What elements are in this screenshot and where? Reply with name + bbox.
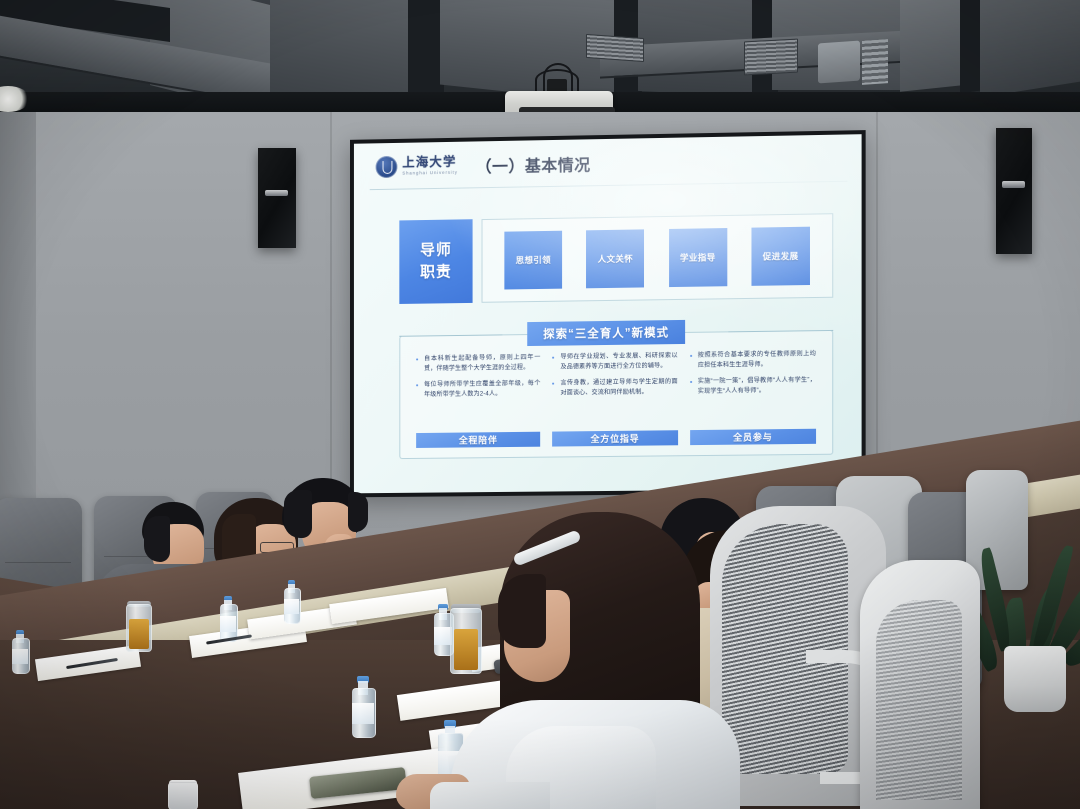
water-bottle: [352, 676, 374, 738]
mentor-duty-line-2: 职责: [420, 261, 452, 283]
duty-item-3: 促进发展: [751, 227, 810, 286]
air-vent: [744, 39, 798, 76]
mode-bullet: 实施“一院一策”，倡导教师“人人有学生”，实现学生“人人有导师”。: [690, 376, 816, 398]
mode-panel: 自本科新生起配备导师，原则上四年一贯，伴随学生整个大学生涯的全过程。 每位导师所…: [399, 330, 833, 459]
mode-column-0: 自本科新生起配备导师，原则上四年一贯，伴随学生整个大学生涯的全过程。 每位导师所…: [410, 353, 546, 448]
wall-speaker-right: [996, 128, 1032, 254]
mode-bullet: 每位导师所带学生应覆盖全部年级，每个年级所带学生人数为2-4人。: [416, 379, 540, 401]
potted-plant-pot: [1004, 646, 1066, 712]
mode-bullet-list-0: 自本科新生起配备导师，原则上四年一贯，伴随学生整个大学生涯的全过程。 每位导师所…: [416, 353, 540, 407]
water-bottle: [220, 596, 236, 642]
wall-speaker-left: [258, 148, 296, 248]
mode-bullet-list-1: 导师在学业规划、专业发展、科研探索以及品德素养等方面进行全方位的辅导。 言传身教…: [552, 351, 677, 405]
tea-tumbler: [126, 604, 152, 652]
mentor-duty-row: 导师 职责 思想引领 人文关怀 学业指导 促进发展: [399, 213, 833, 304]
university-name-cn: 上海大学: [402, 156, 458, 170]
mode-column-1: 导师在学业规划、专业发展、科研探索以及品德素养等方面进行全方位的辅导。 言传身教…: [546, 351, 683, 447]
projection-screen: 上海大学 Shanghai University （一）基本情况 导师 职责 思…: [350, 130, 866, 497]
shanghai-university-logo-icon: [376, 156, 398, 178]
air-vent-small: [586, 34, 644, 62]
mentor-duty-line-1: 导师: [420, 240, 452, 262]
slide-title: （一）基本情况: [476, 151, 591, 177]
attendee-woman-headband-foreground: [470, 512, 730, 809]
duty-item-1: 人文关怀: [586, 229, 644, 288]
duty-item-0: 思想引领: [504, 231, 562, 290]
mesh-office-chair-second-mesh: [876, 600, 962, 800]
mode-bullet: 导师在学业规划、专业发展、科研探索以及品德素养等方面进行全方位的辅导。: [552, 351, 677, 373]
water-bottle: [12, 630, 28, 674]
mode-tag-2: 全员参与: [690, 429, 816, 445]
university-name-en: Shanghai University: [402, 170, 458, 176]
slide-header: 上海大学 Shanghai University （一）基本情况: [354, 138, 862, 187]
mode-bullet: 言传身教，通过建立导师与学生定期的面对面谈心、交流和同伴励机制。: [552, 377, 677, 399]
duty-item-2: 学业指导: [669, 228, 727, 287]
presentation-slide: 上海大学 Shanghai University （一）基本情况 导师 职责 思…: [354, 134, 862, 493]
water-bottle: [284, 580, 299, 624]
mode-tag-1: 全方位指导: [552, 430, 677, 446]
paper-cup: [168, 782, 198, 809]
mentor-duty-main-box: 导师 职责: [399, 219, 472, 304]
university-wordmark: 上海大学 Shanghai University: [402, 156, 458, 176]
mode-banner: 探索“三全育人”新模式: [527, 320, 685, 346]
mentor-duty-items-panel: 思想引领 人文关怀 学业指导 促进发展: [482, 213, 834, 303]
sleeve: [430, 782, 550, 809]
mode-bullet: 自本科新生起配备导师，原则上四年一贯，伴随学生整个大学生涯的全过程。: [416, 353, 540, 375]
mode-tag-0: 全程陪伴: [416, 432, 540, 448]
potted-plant-leaves: [966, 512, 1080, 662]
mode-column-2: 按照系符合基本要求的专任教师原则上均应担任本科生生涯导师。 实施“一院一策”，倡…: [684, 349, 822, 445]
meeting-room-photo: 上海大学 Shanghai University （一）基本情况 导师 职责 思…: [0, 0, 1080, 809]
mode-bullet: 按照系符合基本要求的专任教师原则上均应担任本科生生涯导师。: [690, 349, 816, 371]
mode-bullet-list-2: 按照系符合基本要求的专任教师原则上均应担任本科生生涯导师。 实施“一院一策”，倡…: [690, 349, 816, 403]
